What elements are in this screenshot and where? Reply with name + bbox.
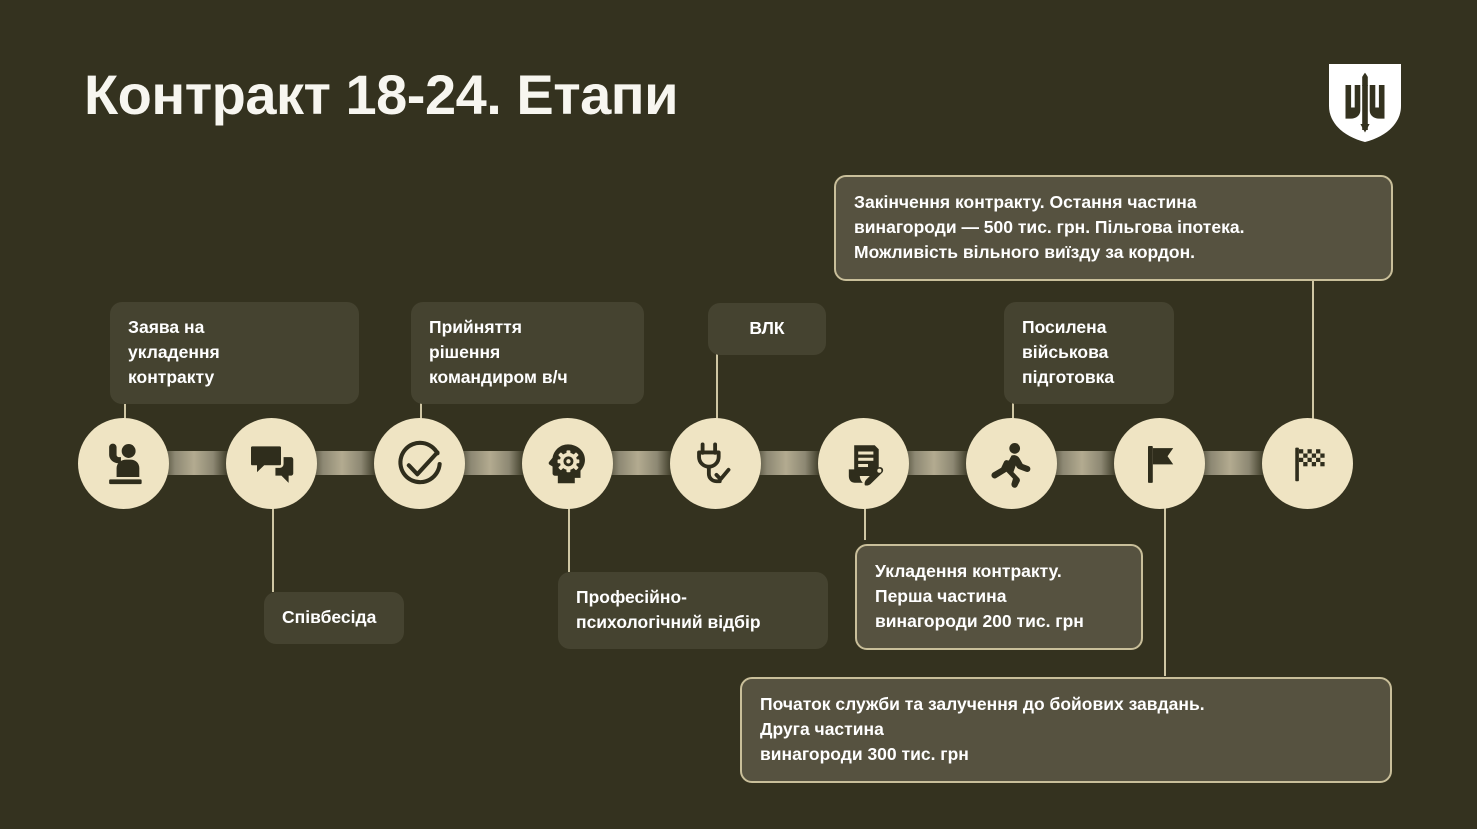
stage-label-8-service-start: Початок служби та залучення до бойових з… <box>740 677 1392 783</box>
stage-label-5-medical-commission: ВЛК <box>708 303 826 355</box>
timeline-node-8-service-start[interactable] <box>1114 418 1205 509</box>
leader-line-stage-4 <box>568 508 570 572</box>
ukrainian-trident-shield-emblem <box>1327 62 1403 144</box>
stage-label-9-contract-end: Закінчення контракту. Остання частина ви… <box>834 175 1393 281</box>
timeline-node-7-military-training[interactable] <box>966 418 1057 509</box>
stage-label-2-interview: Співбесіда <box>264 592 404 644</box>
checkered-finish-flag-icon <box>1285 441 1331 487</box>
timeline-connector-7-8 <box>1048 451 1116 475</box>
timeline-node-1-application[interactable] <box>78 418 169 509</box>
leader-line-stage-8 <box>1164 508 1166 676</box>
head-with-gear-icon <box>543 439 593 489</box>
timeline-node-6-contract-signing[interactable] <box>818 418 909 509</box>
timeline-node-2-interview[interactable] <box>226 418 317 509</box>
running-person-icon <box>987 439 1037 489</box>
stage-label-7-military-training: Посилена військова підготовка <box>1004 302 1174 404</box>
timeline-connector-2-3 <box>308 451 376 475</box>
chat-bubbles-icon <box>248 440 296 488</box>
timeline-connector-6-7 <box>900 451 968 475</box>
stage-label-6-contract-signing: Укладення контракту. Перша частина винаг… <box>855 544 1143 650</box>
document-signature-icon <box>839 439 889 489</box>
timeline-node-4-psychological-selection[interactable] <box>522 418 613 509</box>
timeline-connector-1-2 <box>160 451 228 475</box>
timeline-connector-3-4 <box>456 451 524 475</box>
leader-line-stage-9 <box>1312 277 1314 422</box>
leader-line-stage-2 <box>272 508 274 592</box>
timeline-node-3-commander-decision[interactable] <box>374 418 465 509</box>
stage-label-1-application: Заява на укладення контракту <box>110 302 359 404</box>
timeline-connector-5-6 <box>752 451 820 475</box>
page-title: Контракт 18-24. Етапи <box>84 62 678 127</box>
stethoscope-check-icon <box>691 439 741 489</box>
timeline-node-5-medical-commission[interactable] <box>670 418 761 509</box>
check-circle-icon <box>395 439 445 489</box>
timeline-connector-4-5 <box>604 451 672 475</box>
person-raising-hand-at-desk-icon <box>98 438 150 490</box>
timeline-node-9-contract-end[interactable] <box>1262 418 1353 509</box>
timeline-connector-8-9 <box>1196 451 1264 475</box>
stage-label-4-psychological-selection: Професійно- психологічний відбір <box>558 572 828 649</box>
leader-line-stage-6 <box>864 508 866 540</box>
flag-pole-icon <box>1136 440 1184 488</box>
stage-label-3-commander-decision: Прийняття рішення командиром в/ч <box>411 302 644 404</box>
